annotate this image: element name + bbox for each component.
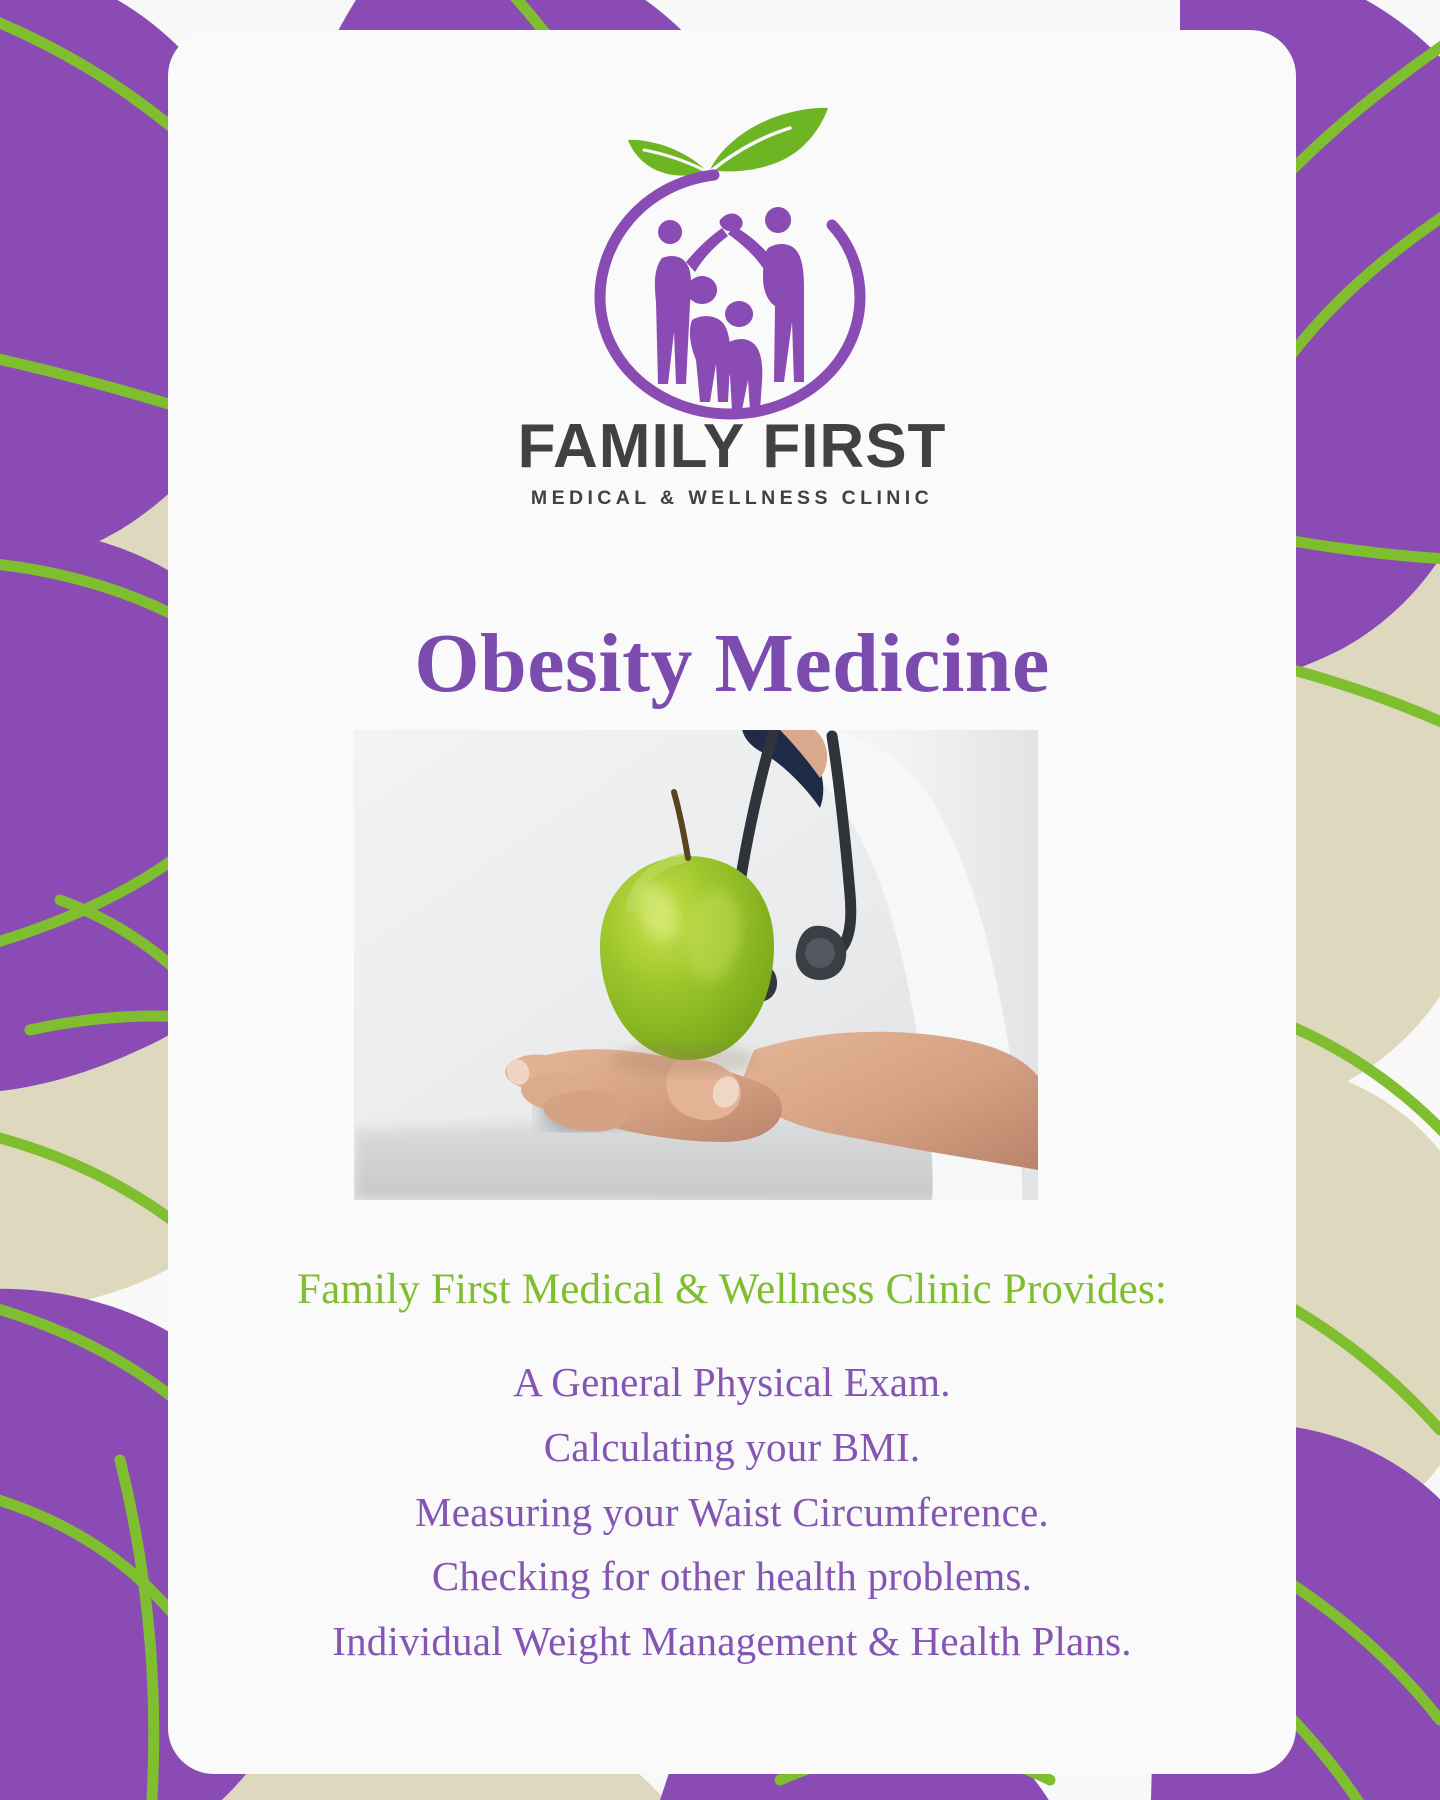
provides-heading: Family First Medical & Wellness Clinic P… [168,1265,1296,1314]
list-item: Calculating your BMI. [168,1415,1296,1480]
poster-card: FAMILY FIRST MEDICAL & WELLNESS CLINIC O… [168,30,1296,1774]
doctor-holding-apple-photo [354,730,1038,1200]
page-title: Obesity Medicine [168,620,1296,708]
logo-wordmark: FAMILY FIRST [518,416,947,478]
poster-root: FAMILY FIRST MEDICAL & WELLNESS CLINIC O… [0,0,1440,1800]
list-item: A General Physical Exam. [168,1350,1296,1415]
leaf-icon [628,108,828,176]
clinic-logo: FAMILY FIRST MEDICAL & WELLNESS CLINIC [168,92,1296,510]
logo-tagline: MEDICAL & WELLNESS CLINIC [531,487,933,510]
list-item: Individual Weight Management & Health Pl… [168,1609,1296,1674]
list-item: Checking for other health problems. [168,1544,1296,1609]
family-silhouette-icon [655,207,804,410]
photo-illustration [354,730,1038,1200]
services-list: A General Physical Exam. Calculating you… [168,1350,1296,1674]
list-item: Measuring your Waist Circumference. [168,1480,1296,1545]
apple-circle-family-logo-icon [582,92,882,422]
